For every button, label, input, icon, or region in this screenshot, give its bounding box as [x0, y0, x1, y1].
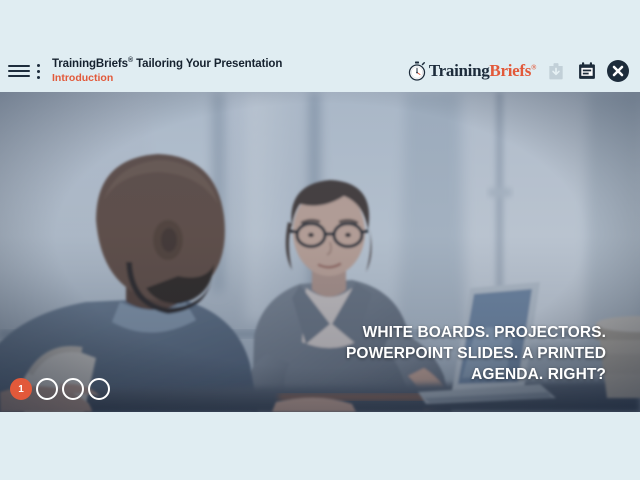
pagination-dot-4[interactable]	[88, 378, 110, 400]
video-player-stage[interactable]: WHITE BOARDS. PROJECTORS. POWERPOINT SLI…	[0, 92, 640, 412]
page-subtitle: Introduction	[52, 72, 407, 84]
brand-wordmark: TrainingBriefs®	[429, 61, 536, 81]
close-icon	[606, 59, 630, 83]
page-title-brand: TrainingBriefs	[52, 58, 128, 70]
notes-icon	[577, 61, 597, 81]
brand-word-briefs: Briefs	[489, 61, 531, 80]
download-icon	[546, 61, 566, 81]
hamburger-menu-icon[interactable]	[8, 65, 30, 77]
kebab-dot	[37, 64, 40, 67]
kebab-menu-icon[interactable]	[30, 64, 46, 79]
hamburger-line	[8, 70, 30, 72]
slide-pagination: 1	[10, 378, 110, 400]
hamburger-line	[8, 75, 30, 77]
stopwatch-icon	[407, 61, 427, 81]
page-title: TrainingBriefs® Tailoring Your Presentat…	[52, 57, 407, 71]
kebab-dot	[37, 76, 40, 79]
hamburger-line	[8, 65, 30, 67]
header-actions	[544, 59, 630, 83]
brand-word-training: Training	[429, 61, 490, 80]
player-header: TrainingBriefs® Tailoring Your Presentat…	[0, 50, 640, 92]
pagination-dot-2[interactable]	[36, 378, 58, 400]
video-caption: WHITE BOARDS. PROJECTORS. POWERPOINT SLI…	[276, 322, 606, 385]
page-title-rest: Tailoring Your Presentation	[133, 58, 282, 70]
header-titles: TrainingBriefs® Tailoring Your Presentat…	[52, 57, 407, 84]
notes-button[interactable]	[575, 59, 599, 83]
brand-registered-icon: ®	[531, 63, 536, 71]
kebab-dot	[37, 70, 40, 73]
trainingbriefs-logo: TrainingBriefs®	[407, 61, 536, 81]
course-player-window: TrainingBriefs® Tailoring Your Presentat…	[0, 0, 640, 480]
pagination-dot-1[interactable]: 1	[10, 378, 32, 400]
pagination-dot-3[interactable]	[62, 378, 84, 400]
close-button[interactable]	[606, 59, 630, 83]
download-button	[544, 59, 568, 83]
